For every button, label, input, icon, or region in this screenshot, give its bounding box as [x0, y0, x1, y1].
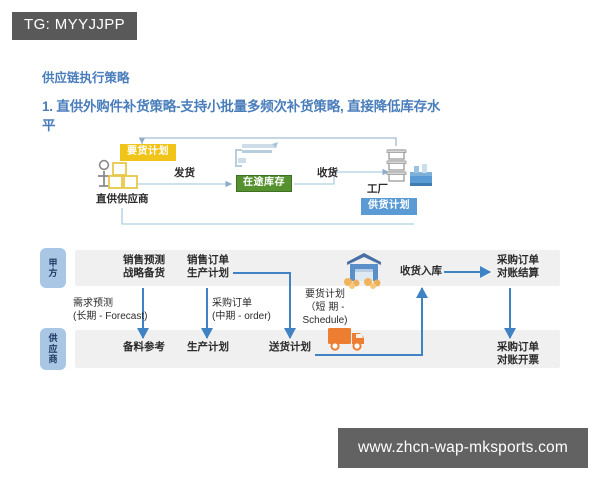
- edge-label-demand-forecast-line-2: (长期 - Forecast): [73, 310, 147, 323]
- site-watermark: www.zhcn-wap-mksports.com: [338, 428, 588, 468]
- edge-label-requirement-schedule-line-2: （短 期 -: [287, 301, 363, 314]
- node-production-plan-line-1: 生产计划: [173, 341, 243, 354]
- node-po-settlement: 采购订单 对账结算: [483, 254, 553, 280]
- chip-demand-plan: 要货计划: [120, 144, 176, 161]
- upper-flow-diagram: 要货计划 在途库存 供货计划 发货 收货 工厂 直供供应商: [84, 132, 464, 232]
- node-po-invoice-line-2: 对账开票: [483, 354, 553, 367]
- node-sales-forecast-line-1: 销售预测: [108, 254, 180, 267]
- edge-label-requirement-schedule-line-3: Schedule): [287, 314, 363, 327]
- node-delivery-plan-line-1: 送货计划: [255, 341, 325, 354]
- node-sales-order-line-2: 生产计划: [173, 267, 243, 280]
- node-sales-forecast-line-2: 战略备货: [108, 267, 180, 280]
- edge-label-demand-forecast-line-1: 需求预测: [73, 297, 147, 310]
- edge-label-purchase-order: 采购订单 (中期 - order): [212, 297, 271, 323]
- node-sales-order-line-1: 销售订单: [173, 254, 243, 267]
- lower-swimlane-diagram: 甲方 供应商: [40, 240, 560, 385]
- label-factory: 工厂: [367, 184, 388, 195]
- label-direct-supplier: 直供供应商: [96, 194, 149, 205]
- node-material-prep-line-1: 备料参考: [108, 341, 180, 354]
- chip-supply-plan: 供货计划: [361, 198, 417, 215]
- node-po-settlement-line-2: 对账结算: [483, 267, 553, 280]
- node-production-plan: 生产计划: [173, 341, 243, 354]
- clipboard-document-icon: [236, 142, 278, 166]
- node-po-invoice: 采购订单 对账开票: [483, 341, 553, 367]
- factory-icon: [410, 164, 432, 186]
- delivery-truck-icon: [328, 328, 364, 350]
- edge-label-demand-forecast: 需求预测 (长期 - Forecast): [73, 297, 147, 323]
- node-delivery-plan: 送货计划: [255, 341, 325, 354]
- node-po-invoice-line-1: 采购订单: [483, 341, 553, 354]
- heading-block: 供应链执行策略 1. 直供外购件补货策略-支持小批量多频次补货策略, 直接降低库…: [42, 70, 442, 136]
- node-po-settlement-line-1: 采购订单: [483, 254, 553, 267]
- node-goods-receipt-line-1: 收货入库: [386, 265, 456, 278]
- node-material-prep: 备料参考: [108, 341, 180, 354]
- node-sales-forecast: 销售预测 战略备货: [108, 254, 180, 280]
- label-ship: 发货: [174, 168, 195, 179]
- chip-in-transit-inventory: 在途库存: [236, 175, 292, 192]
- edge-label-purchase-order-line-2: (中期 - order): [212, 310, 271, 323]
- node-sales-order: 销售订单 生产计划: [173, 254, 243, 280]
- page-subtitle: 供应链执行策略: [42, 70, 442, 88]
- node-goods-receipt: 收货入库: [386, 265, 456, 278]
- supplier-person-icon: [98, 161, 137, 188]
- edge-label-requirement-schedule: 要货计划 （短 期 - Schedule): [287, 288, 363, 327]
- tg-badge: TG: MYYJJPP: [12, 12, 137, 40]
- edge-label-purchase-order-line-1: 采购订单: [212, 297, 271, 310]
- label-receive: 收货: [317, 168, 338, 179]
- edge-label-requirement-schedule-line-1: 要货计划: [287, 288, 363, 301]
- page-title: 1. 直供外购件补货策略-支持小批量多频次补货策略, 直接降低库存水平: [42, 97, 442, 136]
- warehouse-icon: [344, 253, 381, 289]
- stacked-containers-icon: [387, 150, 406, 181]
